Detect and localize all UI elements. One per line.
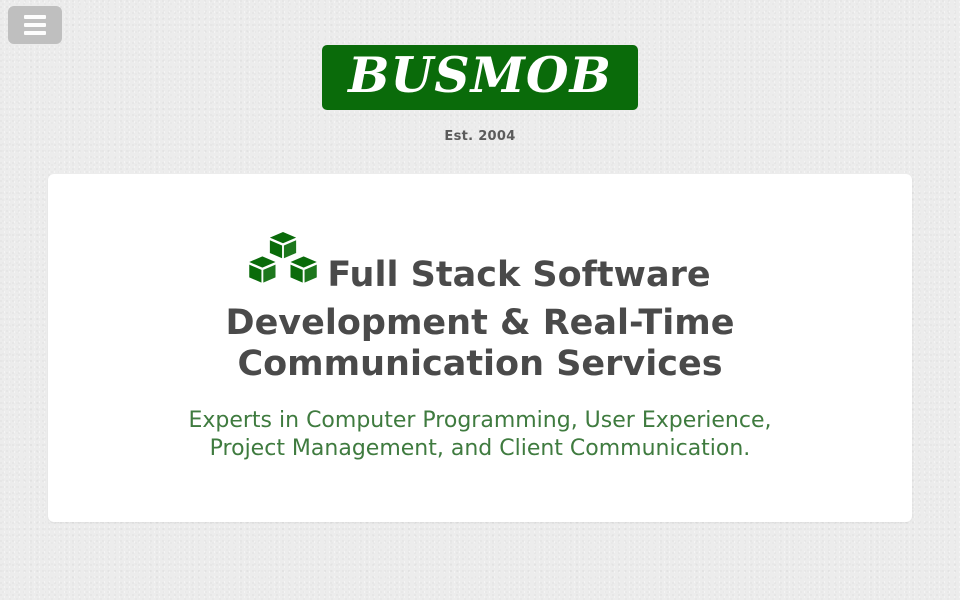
- hamburger-menu-icon-bar-1: [24, 15, 46, 19]
- hamburger-menu-icon-bar-3: [24, 31, 46, 35]
- brand-header: BUSMOB Est. 2004: [0, 0, 960, 144]
- cubes-icon: [249, 232, 317, 302]
- brand-tagline: Est. 2004: [0, 129, 960, 144]
- hero-heading-block: Full Stack Software Development & Real-T…: [200, 232, 760, 385]
- hero-subheading: Experts in Computer Programming, User Ex…: [180, 407, 780, 463]
- navbar-toggle-button[interactable]: [8, 6, 62, 44]
- brand-logo-link[interactable]: BUSMOB: [322, 45, 638, 110]
- hamburger-menu-icon-bar-2: [24, 23, 46, 27]
- hero-card: Full Stack Software Development & Real-T…: [48, 174, 912, 522]
- brand-logo-text: BUSMOB: [348, 51, 612, 100]
